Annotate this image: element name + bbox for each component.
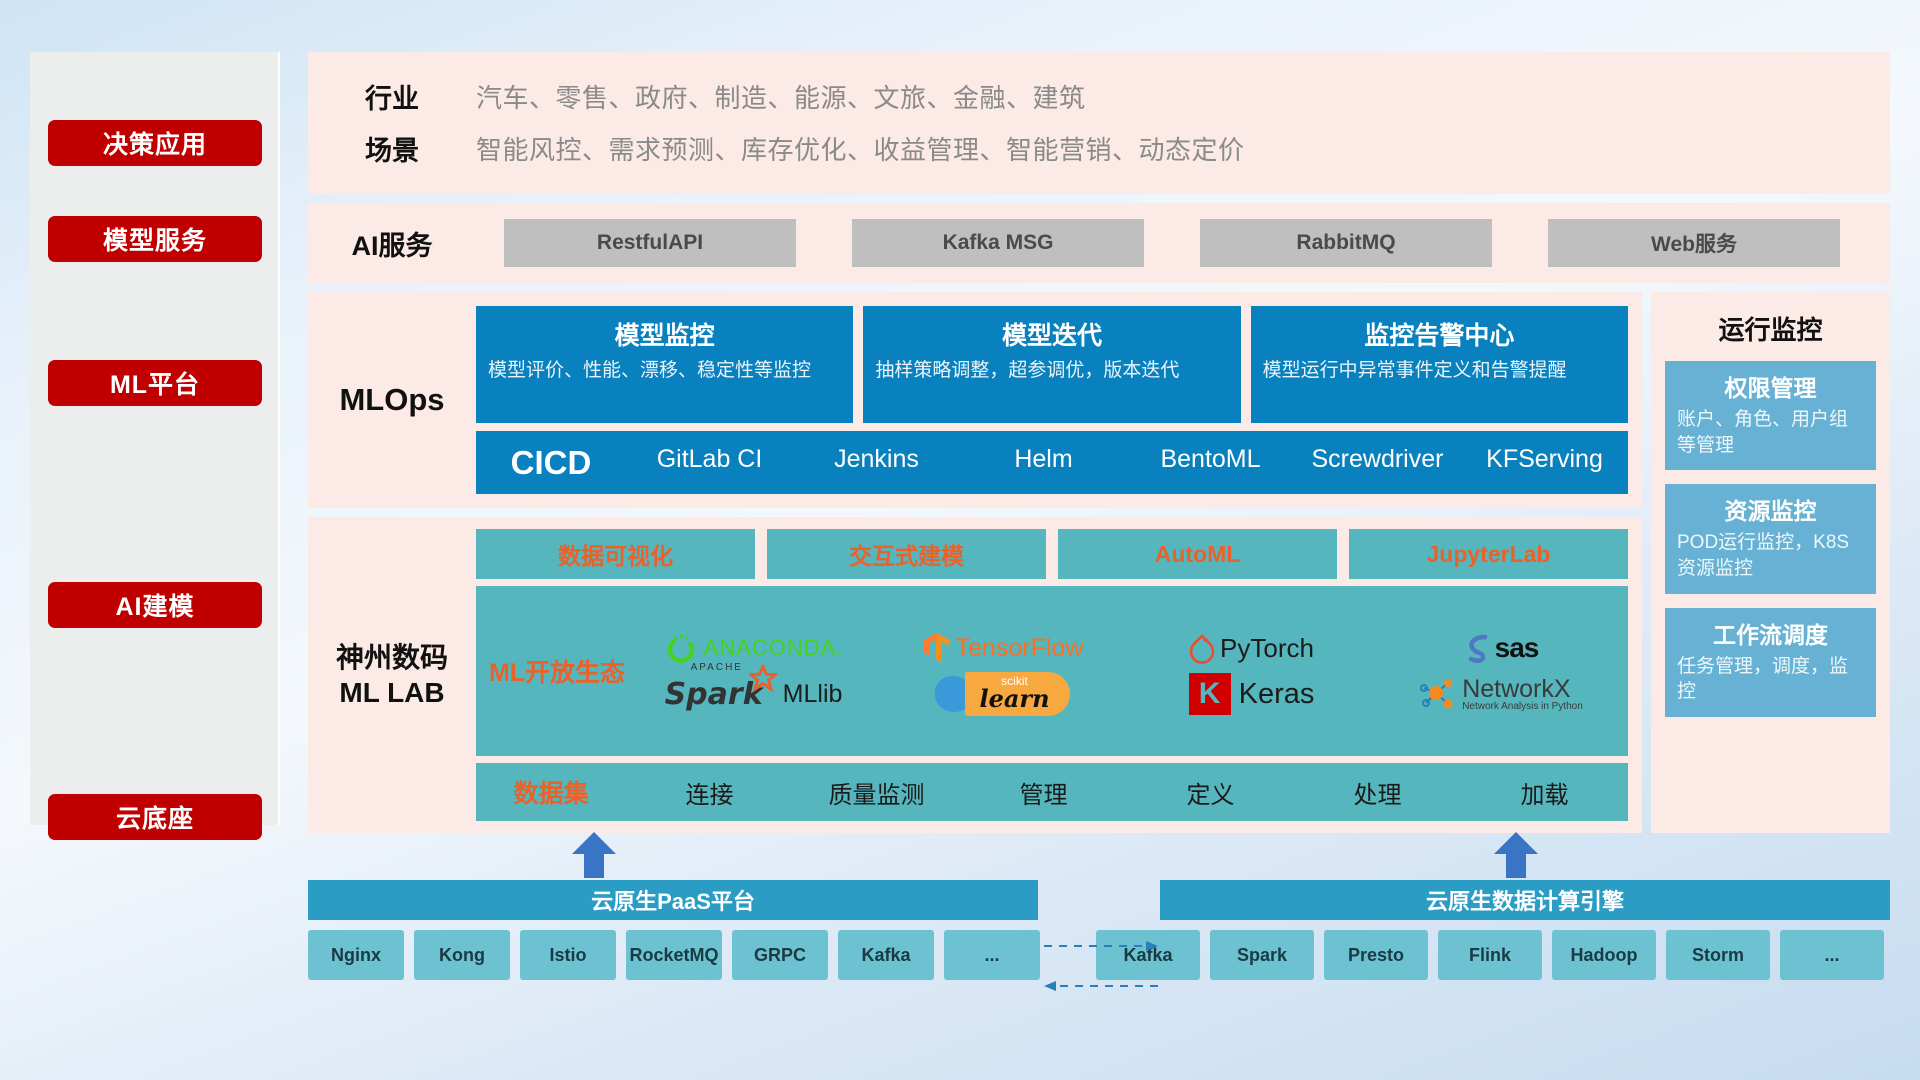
- rail-item-label: 决策应用: [103, 125, 207, 161]
- stack-layer-rail: 决策应用 模型服务 ML平台 AI建模 云底座: [30, 52, 280, 825]
- learn-word: learn: [979, 687, 1049, 711]
- networkx-graph-icon: [1418, 675, 1458, 713]
- spark-mllib-logo: APACHE Spark MLlib: [665, 677, 843, 712]
- card-desc: POD运行监控，K8S资源监控: [1677, 530, 1864, 581]
- card-desc: 模型评价、性能、漂移、稳定性等监控: [488, 358, 841, 384]
- application-band: 行业 汽车、零售、政府、制造、能源、文旅、金融、建筑 场景 智能风控、需求预测、…: [308, 52, 1890, 194]
- cloud-bar-engine[interactable]: 云原生数据计算引擎: [1160, 880, 1890, 920]
- rail-item-label: ML平台: [110, 365, 200, 401]
- networkx-wordmark: NetworkX: [1462, 677, 1583, 702]
- cloud-chip-rocketmq[interactable]: RocketMQ: [626, 930, 722, 980]
- cloud-bar-gap: [1038, 880, 1160, 920]
- tensorflow-wordmark: TensorFlow: [956, 634, 1084, 663]
- cloud-chip-presto[interactable]: Presto: [1324, 930, 1428, 980]
- ml-lab-chip-row: 数据可视化 交互式建模 AutoML JupyterLab: [476, 529, 1628, 579]
- arrow-up-paas-icon: [570, 832, 618, 878]
- card-title: 模型监控: [488, 316, 841, 352]
- cicd-label: CICD: [476, 444, 626, 482]
- sas-swirl-icon: [1463, 632, 1493, 664]
- dashed-connector-icons: [1040, 930, 1162, 1000]
- cloud-chip-kafka[interactable]: Kafka: [838, 930, 934, 980]
- dataset-label: 数据集: [476, 774, 626, 810]
- rail-item-ml-platform[interactable]: ML平台: [48, 360, 262, 406]
- cloud-chip-grpc[interactable]: GRPC: [732, 930, 828, 980]
- spark-star-icon: [749, 665, 777, 693]
- mlops-card-model-iteration[interactable]: 模型迭代 抽样策略调整，超参调优，版本迭代: [863, 306, 1240, 423]
- card-desc: 账户、角色、用户组等管理: [1677, 407, 1864, 458]
- cicd-item-kfserving[interactable]: KFServing: [1461, 447, 1628, 472]
- keras-logo: K Keras: [1189, 673, 1315, 715]
- sas-logo: sas: [1463, 632, 1539, 664]
- ai-service-band: AI服务 RestfulAPI Kafka MSG RabbitMQ Web服务: [308, 203, 1890, 283]
- ml-open-ecosystem-label: ML开放生态: [482, 653, 632, 689]
- cloud-chip-paas-more[interactable]: ...: [944, 930, 1040, 980]
- cloud-bar-paas[interactable]: 云原生PaaS平台: [308, 880, 1038, 920]
- cicd-row: CICD GitLab CI Jenkins Helm BentoML Scre…: [476, 431, 1628, 494]
- ml-lab-label-line1: 神州数码: [336, 640, 448, 675]
- industry-label: 行业: [308, 77, 476, 116]
- rail-item-label: 模型服务: [103, 221, 207, 257]
- dataset-item-manage[interactable]: 管理: [960, 775, 1127, 810]
- cloud-chip-spark[interactable]: Spark: [1210, 930, 1314, 980]
- mlops-band: MLOps 模型监控 模型评价、性能、漂移、稳定性等监控 模型迭代 抽样策略调整…: [308, 292, 1642, 508]
- scikit-learn-logo: scikit learn: [935, 672, 1069, 716]
- mlops-content: 模型监控 模型评价、性能、漂移、稳定性等监控 模型迭代 抽样策略调整，超参调优，…: [476, 306, 1628, 494]
- monitor-card-resource[interactable]: 资源监控 POD运行监控，K8S资源监控: [1665, 484, 1876, 593]
- cloud-base-section: 云原生PaaS平台 云原生数据计算引擎 Nginx Kong Istio Roc…: [308, 880, 1890, 980]
- tensorflow-logo: TensorFlow: [922, 631, 1084, 665]
- cicd-item-screwdriver[interactable]: Screwdriver: [1294, 447, 1461, 472]
- anaconda-wordmark: ANACONDA.: [704, 635, 844, 661]
- keras-k-mark-icon: K: [1189, 673, 1231, 715]
- keras-wordmark: Keras: [1239, 678, 1315, 711]
- lab-chip-data-visualization[interactable]: 数据可视化: [476, 529, 755, 579]
- cloud-chip-nginx[interactable]: Nginx: [308, 930, 404, 980]
- paas-chip-group: Nginx Kong Istio RocketMQ GRPC Kafka ...: [308, 930, 1040, 980]
- runtime-monitoring-panel: 运行监控 权限管理 账户、角色、用户组等管理 资源监控 POD运行监控，K8S资…: [1651, 292, 1890, 833]
- service-chip-rabbitmq[interactable]: RabbitMQ: [1200, 219, 1492, 267]
- card-desc: 模型运行中异常事件定义和告警提醒: [1263, 358, 1616, 384]
- rail-item-cloud-base[interactable]: 云底座: [48, 794, 262, 840]
- lab-chip-interactive-modeling[interactable]: 交互式建模: [767, 529, 1046, 579]
- monitor-card-workflow[interactable]: 工作流调度 任务管理，调度，监控: [1665, 608, 1876, 717]
- apache-wordmark: APACHE: [691, 662, 743, 673]
- ml-lab-content: 数据可视化 交互式建模 AutoML JupyterLab ML开放生态: [476, 529, 1628, 821]
- dataset-item-define[interactable]: 定义: [1127, 775, 1294, 810]
- scenario-row: 场景 智能风控、需求预测、库存优化、收益管理、智能营销、动态定价: [308, 122, 1890, 174]
- pytorch-logo: PyTorch: [1189, 632, 1314, 664]
- mlops-card-row: 模型监控 模型评价、性能、漂移、稳定性等监控 模型迭代 抽样策略调整，超参调优，…: [476, 306, 1628, 423]
- industry-row: 行业 汽车、零售、政府、制造、能源、文旅、金融、建筑: [308, 70, 1890, 122]
- rail-item-label: 云底座: [116, 799, 194, 835]
- cicd-item-jenkins[interactable]: Jenkins: [793, 447, 960, 472]
- ai-service-label: AI服务: [308, 224, 476, 263]
- cicd-item-gitlab-ci[interactable]: GitLab CI: [626, 447, 793, 472]
- ml-lab-label: 神州数码 ML LAB: [308, 529, 476, 821]
- rail-item-ai-modeling[interactable]: AI建模: [48, 582, 262, 628]
- card-desc: 抽样策略调整，超参调优，版本迭代: [875, 358, 1228, 384]
- scenario-label: 场景: [308, 129, 476, 168]
- mllib-wordmark: MLlib: [783, 680, 843, 709]
- ml-lab-label-line2: ML LAB: [339, 675, 444, 710]
- card-title: 权限管理: [1677, 369, 1864, 403]
- cloud-bar-row: 云原生PaaS平台 云原生数据计算引擎: [308, 880, 1890, 920]
- ai-service-chip-list: RestfulAPI Kafka MSG RabbitMQ Web服务: [476, 219, 1890, 267]
- dataset-item-load[interactable]: 加载: [1461, 775, 1628, 810]
- scenario-value: 智能风控、需求预测、库存优化、收益管理、智能营销、动态定价: [476, 130, 1245, 167]
- platform-left-column: MLOps 模型监控 模型评价、性能、漂移、稳定性等监控 模型迭代 抽样策略调整…: [308, 292, 1642, 833]
- service-chip-kafka-msg[interactable]: Kafka MSG: [852, 219, 1144, 267]
- tensorflow-mark-icon: [922, 631, 952, 665]
- architecture-main: 行业 汽车、零售、政府、制造、能源、文旅、金融、建筑 场景 智能风控、需求预测、…: [308, 52, 1890, 833]
- rail-item-label: AI建模: [115, 587, 194, 623]
- cicd-item-helm[interactable]: Helm: [960, 447, 1127, 472]
- industry-value: 汽车、零售、政府、制造、能源、文旅、金融、建筑: [476, 78, 1086, 115]
- dataset-row: 数据集 连接 质量监测 管理 定义 处理 加载: [476, 763, 1628, 821]
- cicd-item-list: GitLab CI Jenkins Helm BentoML Screwdriv…: [626, 453, 1628, 472]
- cloud-chip-hadoop[interactable]: Hadoop: [1552, 930, 1656, 980]
- monitor-card-permission[interactable]: 权限管理 账户、角色、用户组等管理: [1665, 361, 1876, 470]
- ml-lab-band: 神州数码 ML LAB 数据可视化 交互式建模 AutoML JupyterLa…: [308, 517, 1642, 833]
- card-title: 模型迭代: [875, 316, 1228, 352]
- dataset-item-process[interactable]: 处理: [1294, 775, 1461, 810]
- card-desc: 任务管理，调度，监控: [1677, 654, 1864, 705]
- cicd-item-bentoml[interactable]: BentoML: [1127, 447, 1294, 472]
- service-chip-restfulapi[interactable]: RestfulAPI: [504, 219, 796, 267]
- pytorch-wordmark: PyTorch: [1220, 633, 1314, 664]
- dataset-item-connect[interactable]: 连接: [626, 775, 793, 810]
- networkx-tagline: Network Analysis in Python: [1462, 702, 1583, 712]
- cloud-chip-istio[interactable]: Istio: [520, 930, 616, 980]
- scikit-orange-blob-icon: scikit learn: [965, 672, 1069, 716]
- rail-item-model-service[interactable]: 模型服务: [48, 216, 262, 262]
- cloud-chip-engine-more[interactable]: ...: [1780, 930, 1884, 980]
- anaconda-logo: ANACONDA.: [664, 631, 844, 665]
- sas-wordmark: sas: [1495, 632, 1539, 664]
- platform-middle-region: MLOps 模型监控 模型评价、性能、漂移、稳定性等监控 模型迭代 抽样策略调整…: [308, 292, 1890, 833]
- dataset-item-quality[interactable]: 质量监测: [793, 775, 960, 810]
- mlops-card-alert-center[interactable]: 监控告警中心 模型运行中异常事件定义和告警提醒: [1251, 306, 1628, 423]
- pytorch-flame-icon: [1189, 632, 1215, 664]
- cloud-chip-storm[interactable]: Storm: [1666, 930, 1770, 980]
- card-title: 资源监控: [1677, 492, 1864, 526]
- engine-chip-group: Kafka Spark Presto Flink Hadoop Storm ..…: [1096, 930, 1884, 980]
- dataset-item-list: 连接 质量监测 管理 定义 处理 加载: [626, 775, 1628, 810]
- service-chip-web[interactable]: Web服务: [1548, 219, 1840, 267]
- cloud-chip-kong[interactable]: Kong: [414, 930, 510, 980]
- cloud-chip-flink[interactable]: Flink: [1438, 930, 1542, 980]
- rail-item-decision-app[interactable]: 决策应用: [48, 120, 262, 166]
- logo-grid: ANACONDA. TensorFlow: [632, 626, 1622, 716]
- card-title: 监控告警中心: [1263, 316, 1616, 352]
- mlops-label: MLOps: [308, 306, 476, 494]
- card-title: 工作流调度: [1677, 616, 1864, 650]
- lab-chip-jupyterlab[interactable]: JupyterLab: [1349, 529, 1628, 579]
- lab-chip-automl[interactable]: AutoML: [1058, 529, 1337, 579]
- arrow-up-engine-icon: [1492, 832, 1540, 878]
- anaconda-mark-icon: [664, 631, 698, 665]
- networkx-logo: NetworkX Network Analysis in Python: [1418, 675, 1583, 713]
- runtime-monitoring-title: 运行监控: [1665, 310, 1876, 347]
- mlops-card-model-monitoring[interactable]: 模型监控 模型评价、性能、漂移、稳定性等监控: [476, 306, 853, 423]
- ml-open-ecosystem-panel: ML开放生态 ANACONDA.: [476, 586, 1628, 756]
